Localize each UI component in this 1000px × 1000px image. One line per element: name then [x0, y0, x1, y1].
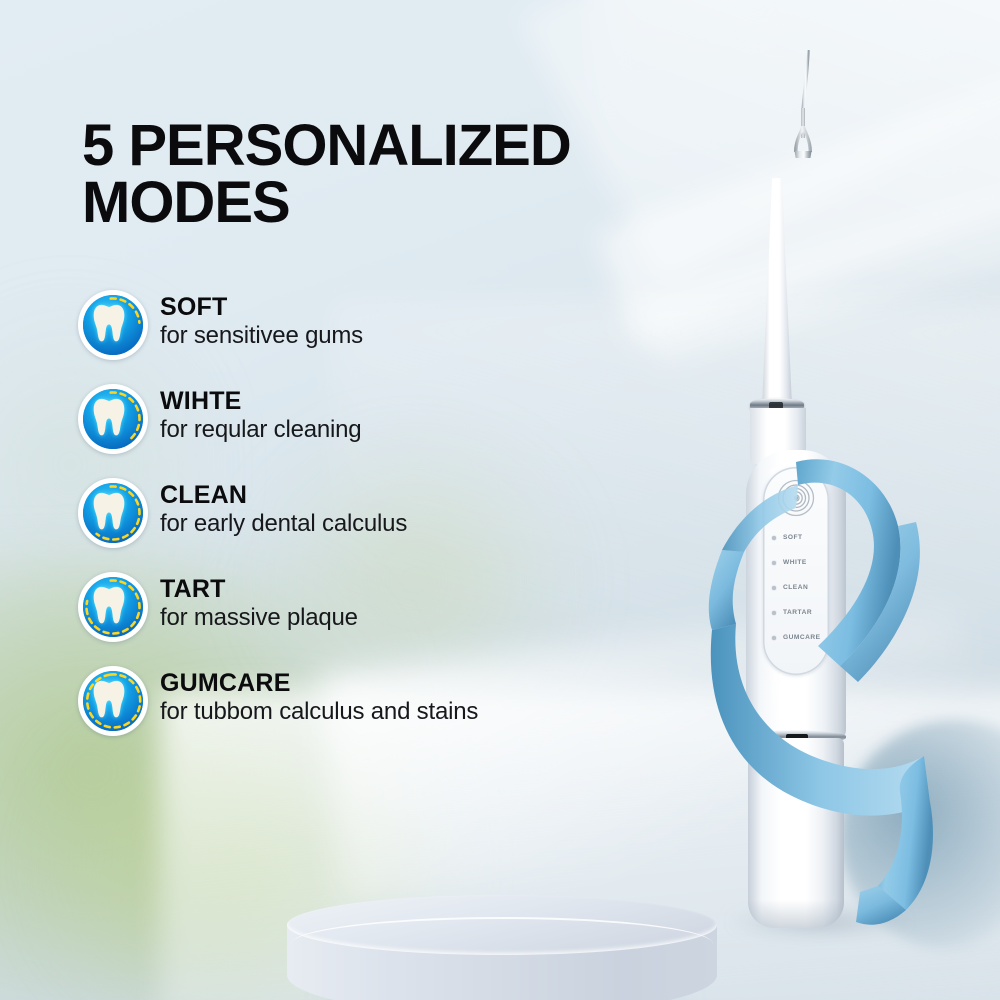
mode-feature-item: SOFT for sensitivee gums — [78, 290, 598, 360]
device-mode-row: GUMCARE — [763, 625, 829, 650]
mode-feature-description: for sensitivee gums — [160, 322, 363, 349]
device-mode-label: WHITE — [783, 559, 807, 566]
tooth-icon — [78, 478, 148, 548]
mode-feature-description: for massive plaque — [160, 604, 358, 631]
tooth-icon — [78, 290, 148, 360]
device-mode-row: WHITE — [763, 550, 829, 575]
device-mode-list: SOFT WHITE CLEAN TARTAR GUMCARE — [763, 525, 829, 650]
mode-feature-title: GUMCARE — [160, 670, 478, 697]
device-neck — [762, 178, 792, 406]
tooth-icon — [78, 384, 148, 454]
mode-led-indicator — [772, 611, 776, 615]
product-banner: 5 PERSONALIZED MODES — [0, 0, 1000, 1000]
device-mode-label: TARTAR — [783, 609, 812, 616]
mode-led-indicator — [772, 586, 776, 590]
device-body-lower — [748, 738, 844, 928]
sonic-wave-icon[interactable] — [776, 478, 816, 518]
tooth-icon — [78, 572, 148, 642]
product-podium — [287, 895, 717, 1000]
mode-feature-item: GUMCARE for tubbom calculus and stains — [78, 666, 598, 736]
mode-feature-list: SOFT for sensitivee gums — [78, 290, 598, 736]
device-mode-label: CLEAN — [783, 584, 808, 591]
page-title: 5 PERSONALIZED MODES — [82, 118, 662, 232]
device-mode-label: SOFT — [783, 534, 803, 541]
podium-rim — [291, 917, 713, 971]
mode-feature-title: TART — [160, 576, 358, 603]
mode-led-indicator — [772, 536, 776, 540]
device-mode-row: TARTAR — [763, 600, 829, 625]
device-control-panel[interactable]: SOFT WHITE CLEAN TARTAR GUMCARE — [763, 467, 829, 675]
mode-feature-description: for tubbom calculus and stains — [160, 698, 478, 725]
dental-scaler-device: SOFT WHITE CLEAN TARTAR GUMCARE — [700, 30, 960, 960]
device-mode-row: SOFT — [763, 525, 829, 550]
page-title-line-1: 5 PERSONALIZED — [82, 113, 571, 178]
device-mode-label: GUMCARE — [783, 634, 821, 641]
mode-feature-item: WIHTE for reqular cleaning — [78, 384, 598, 454]
mode-led-indicator — [772, 561, 776, 565]
mode-feature-description: for reqular cleaning — [160, 416, 361, 443]
mode-feature-item: CLEAN for early dental calculus — [78, 478, 598, 548]
mode-feature-title: SOFT — [160, 294, 363, 321]
mode-led-indicator — [772, 636, 776, 640]
mode-feature-description: for early dental calculus — [160, 510, 407, 537]
mode-feature-title: CLEAN — [160, 482, 407, 509]
tooth-icon — [78, 666, 148, 736]
device-mode-row: CLEAN — [763, 575, 829, 600]
mode-feature-title: WIHTE — [160, 388, 361, 415]
scaler-tip — [774, 48, 834, 188]
page-title-line-2: MODES — [82, 175, 662, 232]
mode-feature-item: TART for massive plaque — [78, 572, 598, 642]
